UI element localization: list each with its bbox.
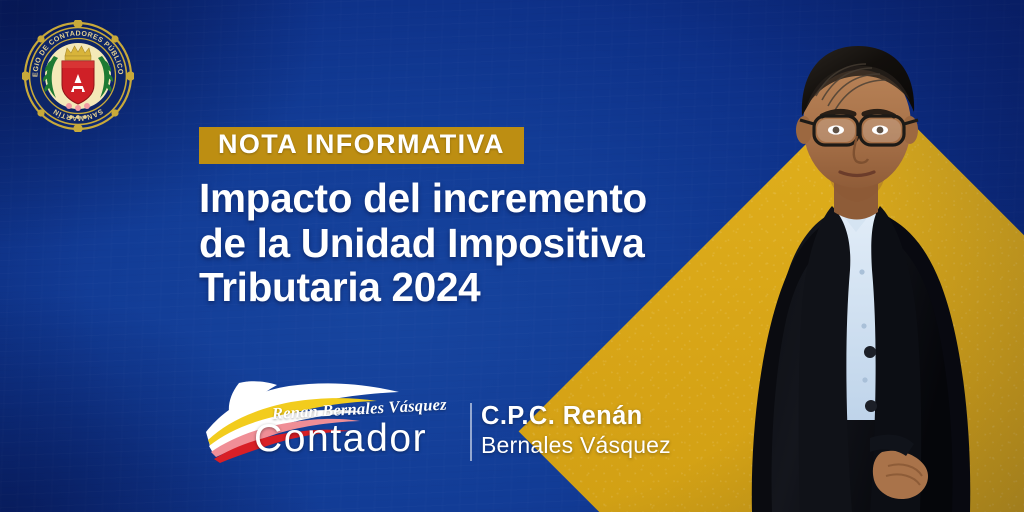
kicker-badge: NOTA INFORMATIVA	[199, 127, 524, 164]
contador-brand-logo: Renan Bernales Vásquez Contador	[193, 364, 469, 470]
vertical-divider	[470, 403, 472, 461]
footer-signature: Renan Bernales Vásquez Contador C.P.C. R…	[193, 364, 713, 476]
title-line-1: Impacto del incremento	[199, 176, 719, 221]
portrait-photo	[674, 20, 1004, 512]
title-line-3: Tributaria 2024	[199, 265, 719, 310]
title-line-2: de la Unidad Impositiva	[199, 221, 719, 266]
person-name-line-2: Bernales Vásquez	[481, 432, 671, 460]
institution-crest-logo: COLEGIO DE CONTADORES PÚBLICOS DE SAN MA…	[22, 20, 134, 132]
person-name-line-1: C.P.C. Renán	[481, 402, 671, 432]
page-title: Impacto del incremento de la Unidad Impo…	[199, 176, 719, 310]
headline-block: NOTA INFORMATIVA Impacto del incremento …	[199, 127, 719, 310]
person-name-block: C.P.C. Renán Bernales Vásquez	[481, 402, 671, 459]
informative-note-banner: COLEGIO DE CONTADORES PÚBLICOS DE SAN MA…	[0, 0, 1024, 512]
brand-wordmark: Contador	[254, 419, 427, 458]
